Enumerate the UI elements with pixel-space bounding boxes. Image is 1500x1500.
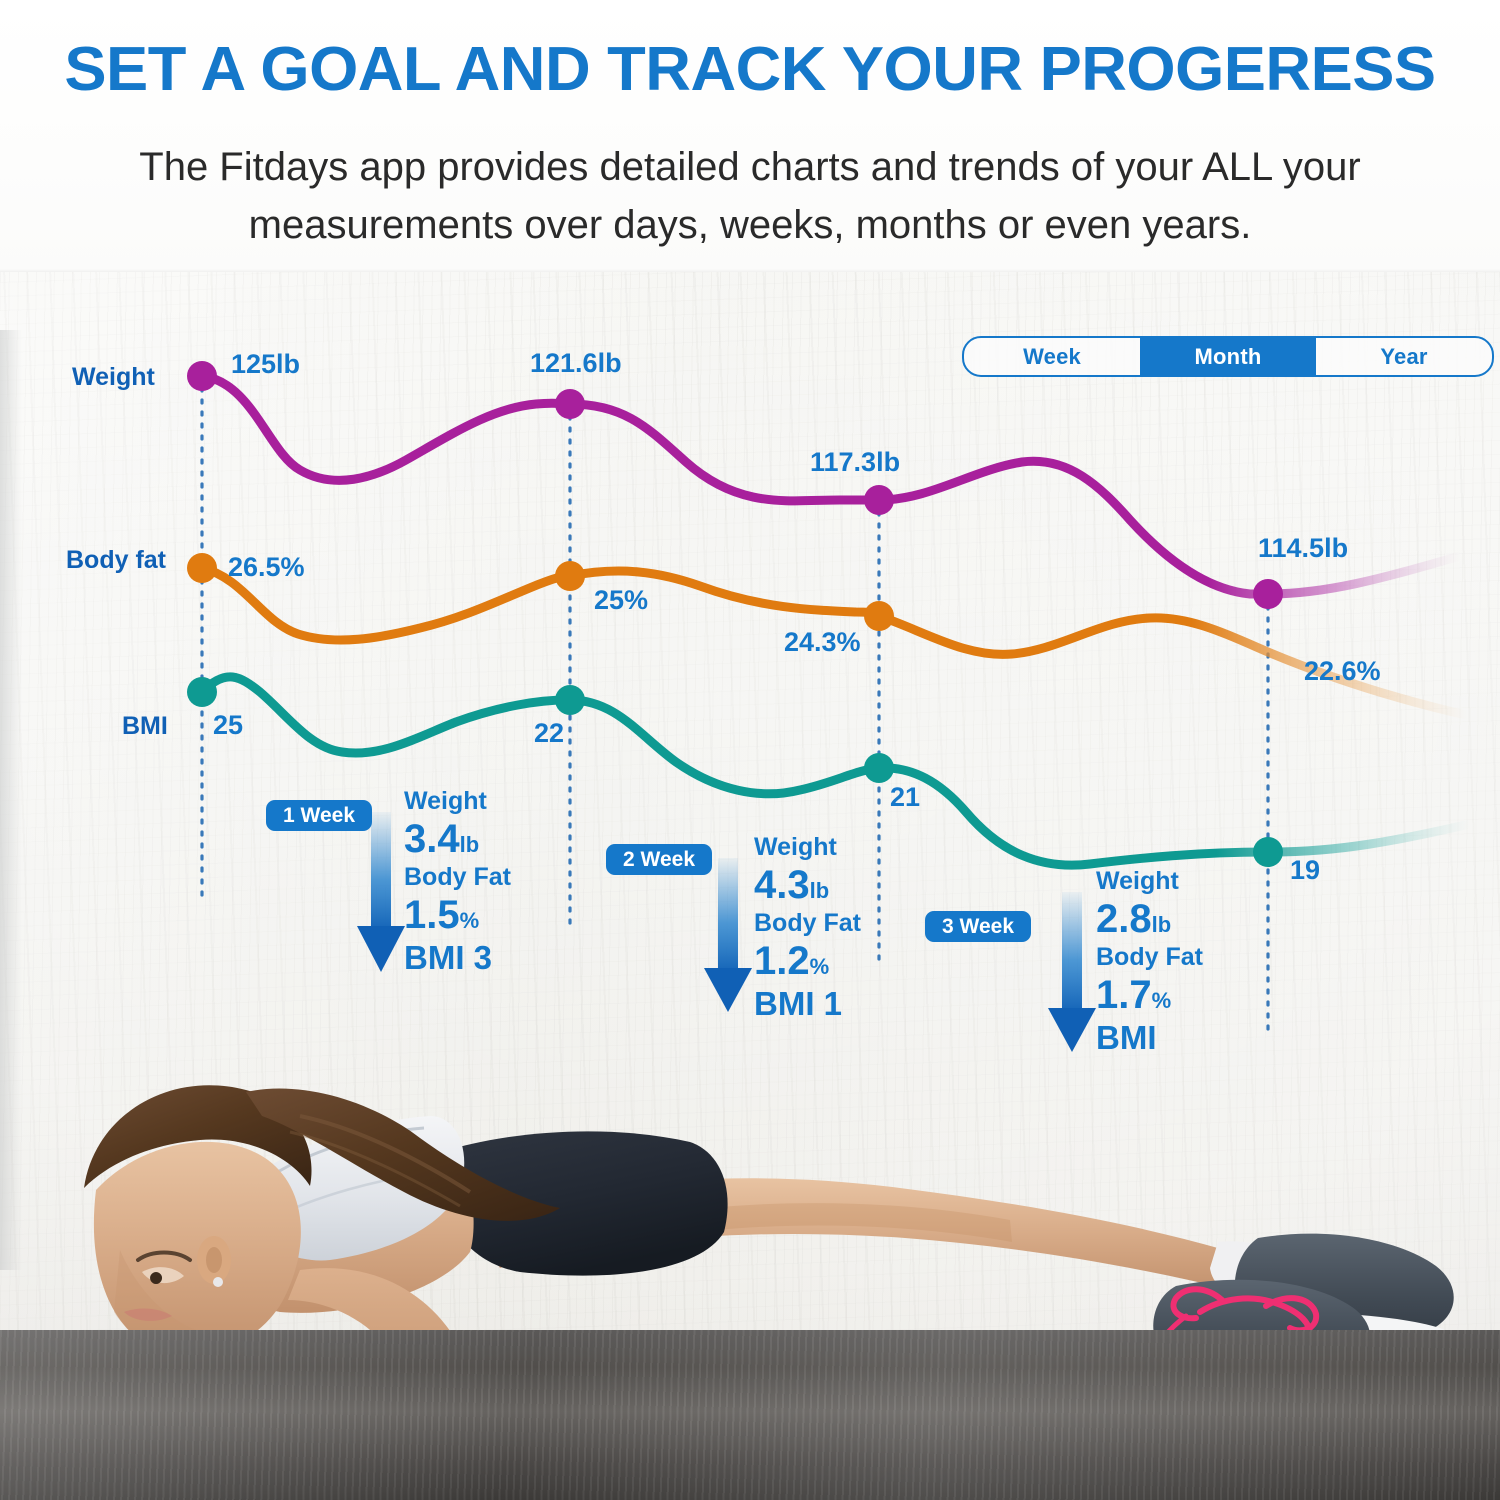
range-selector[interactable]: Week Month Year bbox=[962, 336, 1494, 377]
callout-3-weight-row: 2.8lb bbox=[1096, 897, 1203, 942]
week-badge-3: 3 Week bbox=[925, 911, 1031, 942]
callout-2-weight-row: 4.3lb bbox=[754, 863, 861, 908]
callout-1-bmi: BMI 3 bbox=[404, 938, 511, 978]
range-option-year[interactable]: Year bbox=[1316, 338, 1492, 375]
series-label-bmi: BMI bbox=[122, 712, 168, 741]
bmi-value-1: 25 bbox=[213, 710, 243, 741]
header-band: SET A GOAL AND TRACK YOUR PROGERESS The … bbox=[0, 0, 1500, 272]
callout-2-bmi: BMI 1 bbox=[754, 984, 861, 1024]
infographic-page: SET A GOAL AND TRACK YOUR PROGERESS The … bbox=[0, 0, 1500, 1500]
series-label-weight: Weight bbox=[72, 363, 155, 392]
callout-1-fat-name: Body Fat bbox=[404, 862, 511, 893]
callout-2-fat-name: Body Fat bbox=[754, 908, 861, 939]
callout-metrics-2: Weight 4.3lb Body Fat 1.2% BMI 1 bbox=[754, 832, 861, 1024]
callout-3-fat-value: 1.7 bbox=[1096, 973, 1152, 1017]
callout-2-weight-unit: lb bbox=[810, 878, 830, 903]
bmi-value-3: 21 bbox=[890, 782, 920, 813]
weight-value-3: 117.3lb bbox=[810, 447, 900, 478]
plank-photo bbox=[0, 920, 1500, 1500]
callout-3-weight-value: 2.8 bbox=[1096, 897, 1152, 941]
callout-1-fat-unit: % bbox=[460, 908, 480, 933]
callout-1-weight-row: 3.4lb bbox=[404, 817, 511, 862]
callout-2-fat-unit: % bbox=[810, 954, 830, 979]
callout-2-fat-value: 1.2 bbox=[754, 939, 810, 983]
callout-1-fat-value: 1.5 bbox=[404, 893, 460, 937]
callout-1-weight-value: 3.4 bbox=[404, 817, 460, 861]
range-option-month[interactable]: Month bbox=[1140, 338, 1316, 375]
range-option-week[interactable]: Week bbox=[964, 338, 1140, 375]
callout-metrics-1: Weight 3.4lb Body Fat 1.5% BMI 3 bbox=[404, 786, 511, 978]
callout-3-weight-unit: lb bbox=[1152, 912, 1172, 937]
callout-3-fat-row: 1.7% bbox=[1096, 973, 1203, 1018]
body-fat-value-4: 22.6% bbox=[1304, 656, 1381, 687]
weight-value-4: 114.5lb bbox=[1258, 533, 1348, 564]
callout-1-weight-name: Weight bbox=[404, 786, 511, 817]
week-badge-1: 1 Week bbox=[266, 800, 372, 831]
series-label-body-fat: Body fat bbox=[66, 546, 166, 575]
callout-3-bmi: BMI bbox=[1096, 1018, 1203, 1058]
callout-1-weight-unit: lb bbox=[460, 832, 480, 857]
body-fat-value-1: 26.5% bbox=[228, 552, 305, 583]
body-fat-value-2: 25% bbox=[594, 585, 648, 616]
callout-1-fat-row: 1.5% bbox=[404, 893, 511, 938]
page-title: SET A GOAL AND TRACK YOUR PROGERESS bbox=[0, 36, 1500, 104]
body-fat-value-3: 24.3% bbox=[784, 627, 861, 658]
callout-3-fat-name: Body Fat bbox=[1096, 942, 1203, 973]
callout-3-fat-unit: % bbox=[1152, 988, 1172, 1013]
week-badge-2: 2 Week bbox=[606, 844, 712, 875]
callout-2-weight-value: 4.3 bbox=[754, 863, 810, 907]
callout-3-weight-name: Weight bbox=[1096, 866, 1203, 897]
floor-sheen bbox=[0, 1330, 1500, 1500]
page-subtitle: The Fitdays app provides detailed charts… bbox=[60, 138, 1440, 254]
callout-2-fat-row: 1.2% bbox=[754, 939, 861, 984]
bmi-value-2: 22 bbox=[534, 718, 564, 749]
weight-value-2: 121.6lb bbox=[530, 348, 622, 379]
weight-value-1: 125lb bbox=[231, 349, 300, 380]
bmi-value-4: 19 bbox=[1290, 855, 1320, 886]
callout-metrics-3: Weight 2.8lb Body Fat 1.7% BMI bbox=[1096, 866, 1203, 1058]
callout-2-weight-name: Weight bbox=[754, 832, 861, 863]
